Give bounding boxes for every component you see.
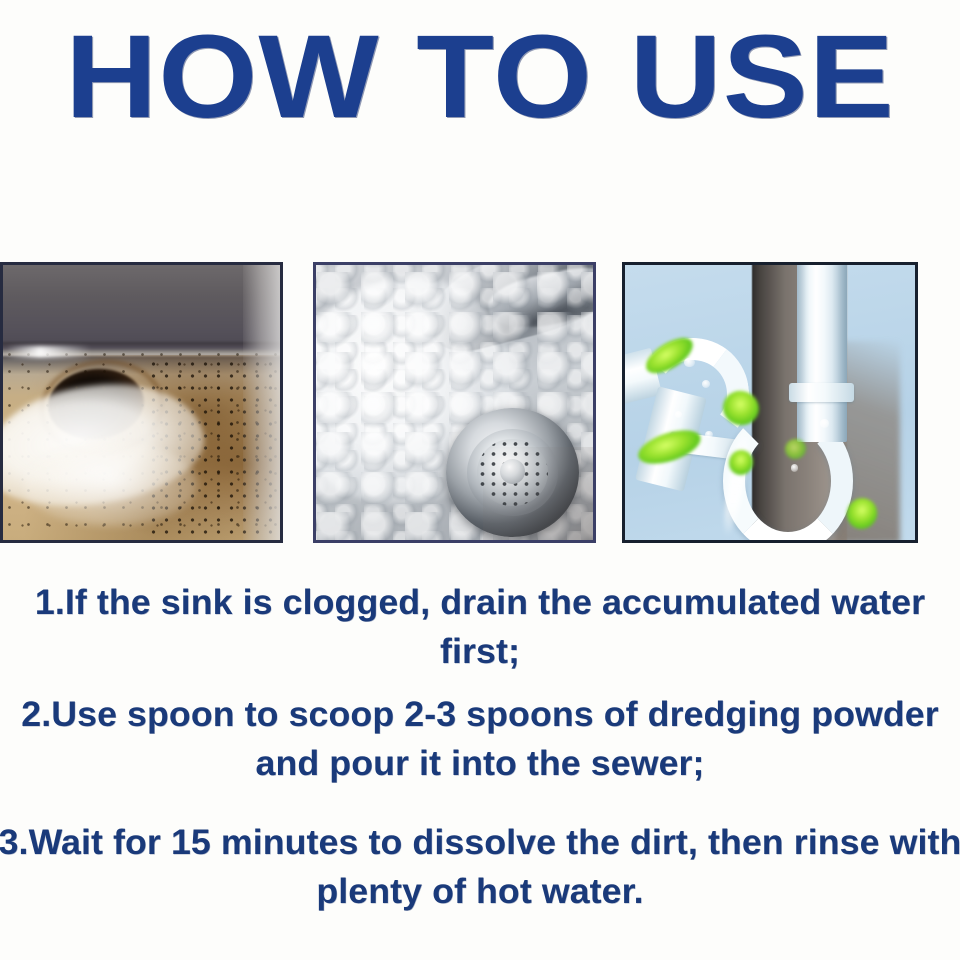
pipe-shine-dot-2 — [702, 380, 710, 388]
instruction-steps-list: 1.If the sink is clogged, drain the accu… — [0, 578, 960, 916]
pipe-shine-dot-6 — [791, 464, 799, 471]
page-title: HOW TO USE — [0, 18, 960, 136]
pipe-shine-dot-5 — [820, 419, 829, 427]
pipe-shine-dot-4 — [705, 431, 713, 438]
basin-shadow — [483, 447, 596, 543]
rim-highlight — [6, 346, 91, 357]
panel-clean-pipe — [622, 262, 918, 543]
pipe-coupling-upper — [789, 383, 854, 403]
panel-foaming-sink — [313, 262, 596, 543]
instruction-image-gallery — [0, 262, 960, 544]
instruction-step-3: 3.Wait for 15 minutes to dissolve the di… — [0, 818, 960, 916]
how-to-use-page: HOW TO USE — [0, 0, 960, 960]
powder-foam-secondary — [23, 442, 198, 526]
panel-clogged-sink — [0, 262, 283, 543]
instruction-step-1: 1.If the sink is clogged, drain the accu… — [0, 578, 960, 676]
instruction-step-2: 2.Use spoon to scoop 2-3 spoons of dredg… — [0, 690, 960, 788]
pipe-shine-dot-3 — [675, 411, 682, 418]
pipe-shine-dot-1 — [684, 358, 694, 368]
vertical-pipe-shading — [797, 262, 847, 442]
sink-side-wall — [243, 262, 283, 543]
